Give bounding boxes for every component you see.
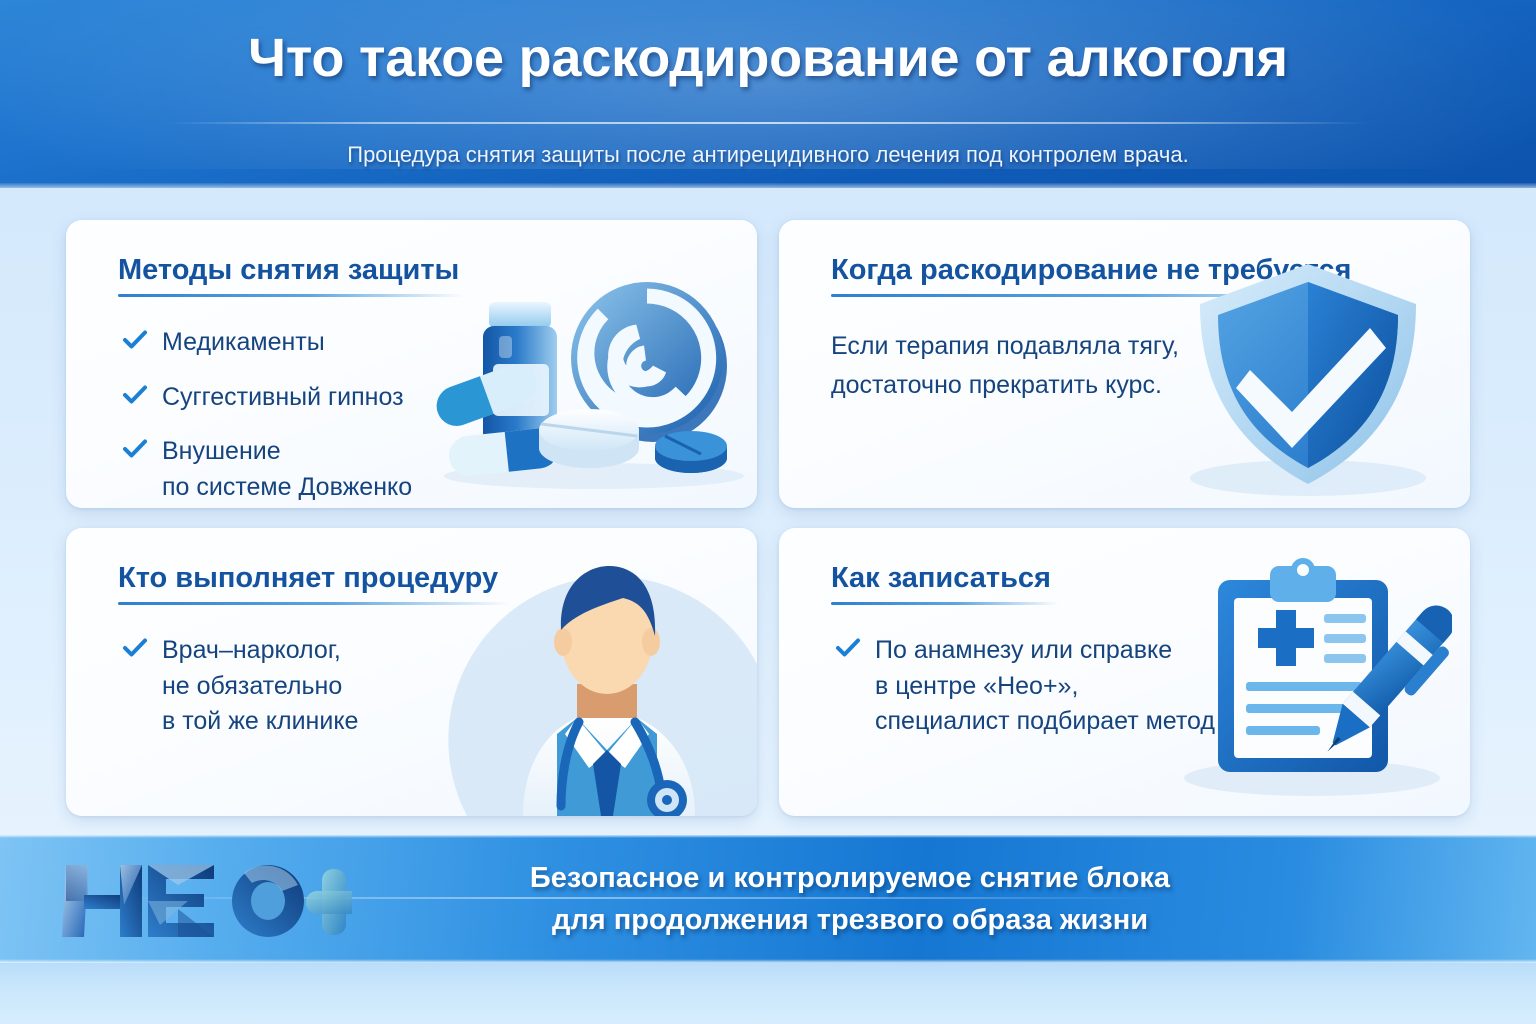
card-who-performs-content: Кто выполняет процедуру Врач–нарколог, н… <box>118 562 737 759</box>
list-item: Врач–нарколог, не обязательно в той же к… <box>118 633 737 740</box>
card-methods-list: Медикаменты Суггестивный гипноз Внушение… <box>118 325 737 505</box>
page-footer: Безопасное и контролируемое снятие блока… <box>0 835 1536 963</box>
list-item-label: Внушение по системе Довженко <box>162 434 412 505</box>
check-icon <box>122 436 148 462</box>
card-who-performs[interactable]: Кто выполняет процедуру Врач–нарколог, н… <box>66 528 757 816</box>
footer-tagline-line2: для продолжения трезвого образа жизни <box>350 899 1350 941</box>
page-bottom-fill <box>0 963 1536 1024</box>
list-item-label: По анамнезу или справке в центре «Нео+»,… <box>875 633 1215 740</box>
list-item: Внушение по системе Довженко <box>118 434 737 505</box>
card-not-required-content: Когда раскодирование не требуется Если т… <box>831 254 1450 405</box>
card-who-performs-title: Кто выполняет процедуру <box>118 562 737 595</box>
card-who-performs-list: Врач–нарколог, не обязательно в той же к… <box>118 633 737 740</box>
page-title: Что такое раскодирование от алкоголя <box>0 27 1536 89</box>
card-grid: Методы снятия защиты Медикаменты Суггест… <box>66 220 1470 816</box>
card-methods-underline <box>118 294 464 297</box>
card-how-to-book-underline <box>831 602 1059 605</box>
check-icon <box>122 327 148 353</box>
header-divider <box>168 122 1368 124</box>
card-methods-title: Методы снятия защиты <box>118 254 737 287</box>
page-subtitle: Процедура снятия защиты после антирециди… <box>0 142 1536 168</box>
list-item-label: Суггестивный гипноз <box>162 383 404 411</box>
list-item: Медикаменты <box>118 325 737 361</box>
footer-tagline: Безопасное и контролируемое снятие блока… <box>350 857 1350 941</box>
card-how-to-book[interactable]: Как записаться По анамнезу или справке в… <box>779 528 1470 816</box>
list-item: По анамнезу или справке в центре «Нео+»,… <box>831 633 1450 740</box>
neo-plus-logo[interactable] <box>62 855 352 947</box>
card-how-to-book-list: По анамнезу или справке в центре «Нео+»,… <box>831 633 1450 740</box>
card-how-to-book-title: Как записаться <box>831 562 1450 595</box>
page-header: Что такое раскодирование от алкоголя Про… <box>0 0 1536 188</box>
list-item-label: Врач–нарколог, не обязательно в той же к… <box>162 633 358 740</box>
check-icon <box>835 635 861 661</box>
card-methods-content: Методы снятия защиты Медикаменты Суггест… <box>118 254 737 508</box>
footer-tagline-line1: Безопасное и контролируемое снятие блока <box>350 857 1350 899</box>
card-not-required-paragraph: Если терапия подавляла тягу, достаточно … <box>831 327 1450 405</box>
card-how-to-book-content: Как записаться По анамнезу или справке в… <box>831 562 1450 759</box>
list-item-label: Медикаменты <box>162 328 325 356</box>
card-methods[interactable]: Методы снятия защиты Медикаменты Суггест… <box>66 220 757 508</box>
card-not-required[interactable]: Когда раскодирование не требуется Если т… <box>779 220 1470 508</box>
card-who-performs-underline <box>118 602 510 605</box>
card-not-required-title: Когда раскодирование не требуется <box>831 254 1450 287</box>
card-not-required-underline <box>831 294 1377 297</box>
list-item: Суггестивный гипноз <box>118 380 737 416</box>
check-icon <box>122 382 148 408</box>
check-icon <box>122 635 148 661</box>
